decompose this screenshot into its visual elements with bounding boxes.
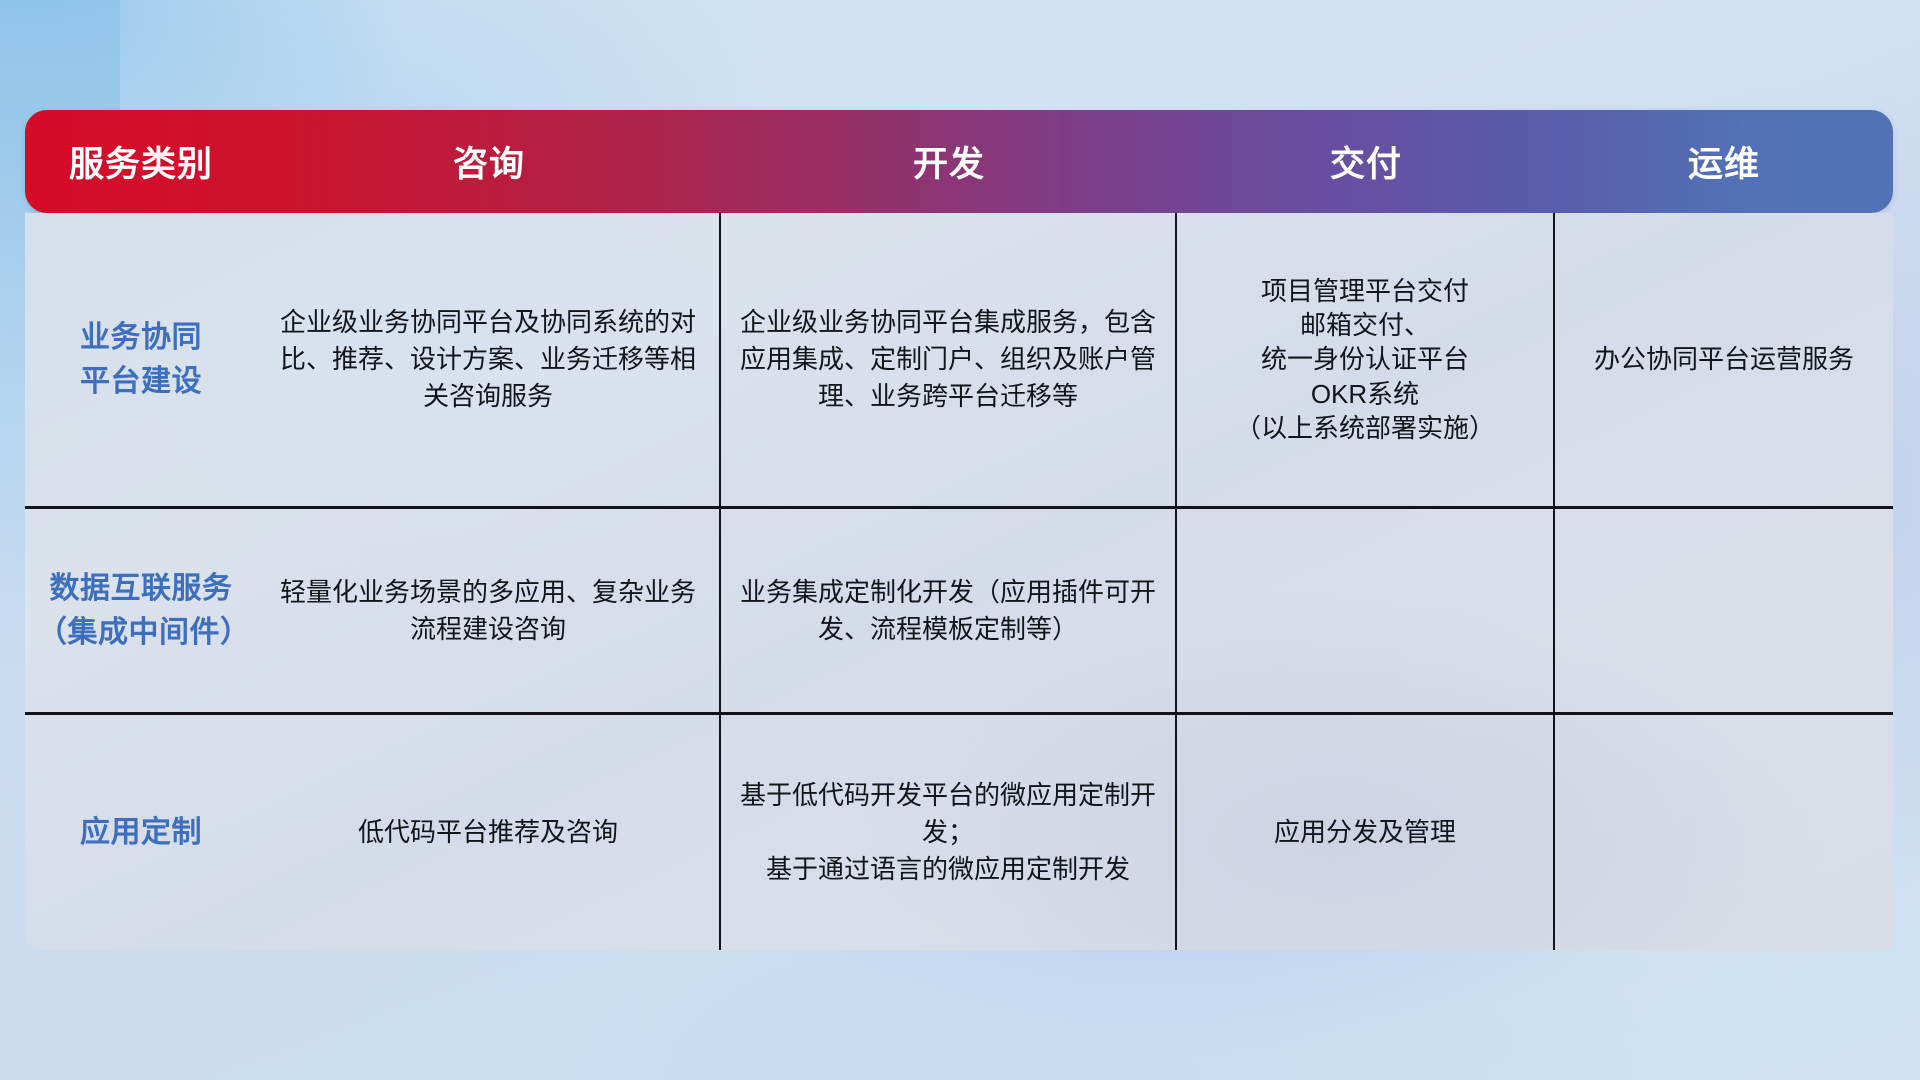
header-cell-consulting: 咨询 bbox=[257, 136, 721, 187]
row-development-text: 业务集成定制化开发（应用插件可开发、流程模板定制等） bbox=[733, 574, 1163, 648]
row-delivery-cell: 项目管理平台交付邮箱交付、统一身份认证平台OKR系统（以上系统部署实施） bbox=[1177, 213, 1555, 506]
row-development-cell: 业务集成定制化开发（应用插件可开发、流程模板定制等） bbox=[721, 509, 1177, 712]
table-row: 业务协同平台建设 企业级业务协同平台及协同系统的对比、推荐、设计方案、业务迁移等… bbox=[25, 213, 1893, 509]
row-category-cell: 业务协同平台建设 bbox=[25, 213, 257, 506]
row-development-cell: 基于低代码开发平台的微应用定制开发；基于通过语言的微应用定制开发 bbox=[721, 715, 1177, 950]
row-development-text: 基于低代码开发平台的微应用定制开发；基于通过语言的微应用定制开发 bbox=[733, 777, 1163, 888]
row-category-label: 业务协同平台建设 bbox=[80, 316, 202, 403]
row-operations-cell: 办公协同平台运营服务 bbox=[1555, 213, 1893, 506]
row-category-cell: 数据互联服务（集成中间件） bbox=[25, 509, 257, 712]
row-operations-cell bbox=[1555, 715, 1893, 950]
row-development-text: 企业级业务协同平台集成服务，包含应用集成、定制门户、组织及账户管理、业务跨平台迁… bbox=[733, 304, 1163, 415]
row-consulting-text: 低代码平台推荐及咨询 bbox=[358, 814, 618, 851]
table-row: 应用定制 低代码平台推荐及咨询 基于低代码开发平台的微应用定制开发；基于通过语言… bbox=[25, 715, 1893, 950]
row-consulting-text: 轻量化业务场景的多应用、复杂业务流程建设咨询 bbox=[269, 574, 707, 648]
row-delivery-text: 应用分发及管理 bbox=[1274, 814, 1456, 851]
row-category-label: 数据互联服务（集成中间件） bbox=[37, 567, 245, 654]
header-cell-service-category: 服务类别 bbox=[25, 136, 257, 187]
row-category-cell: 应用定制 bbox=[25, 715, 257, 950]
header-cell-operations: 运维 bbox=[1555, 136, 1893, 187]
table-body: 业务协同平台建设 企业级业务协同平台及协同系统的对比、推荐、设计方案、业务迁移等… bbox=[25, 213, 1893, 950]
header-cell-delivery: 交付 bbox=[1177, 136, 1555, 187]
service-matrix-table: 服务类别 咨询 开发 交付 运维 业务协同平台建设 企业级业务协同平台及协同系统… bbox=[25, 110, 1893, 950]
row-consulting-cell: 低代码平台推荐及咨询 bbox=[257, 715, 721, 950]
table-header-row: 服务类别 咨询 开发 交付 运维 bbox=[25, 110, 1893, 213]
row-delivery-cell bbox=[1177, 509, 1555, 712]
row-consulting-cell: 轻量化业务场景的多应用、复杂业务流程建设咨询 bbox=[257, 509, 721, 712]
row-delivery-text: 项目管理平台交付邮箱交付、统一身份认证平台OKR系统（以上系统部署实施） bbox=[1235, 274, 1495, 446]
row-operations-cell bbox=[1555, 509, 1893, 712]
row-category-label: 应用定制 bbox=[80, 811, 202, 855]
row-development-cell: 企业级业务协同平台集成服务，包含应用集成、定制门户、组织及账户管理、业务跨平台迁… bbox=[721, 213, 1177, 506]
row-delivery-cell: 应用分发及管理 bbox=[1177, 715, 1555, 950]
row-consulting-cell: 企业级业务协同平台及协同系统的对比、推荐、设计方案、业务迁移等相关咨询服务 bbox=[257, 213, 721, 506]
row-consulting-text: 企业级业务协同平台及协同系统的对比、推荐、设计方案、业务迁移等相关咨询服务 bbox=[269, 304, 707, 415]
header-cell-development: 开发 bbox=[721, 136, 1177, 187]
row-operations-text: 办公协同平台运营服务 bbox=[1594, 341, 1854, 378]
table-row: 数据互联服务（集成中间件） 轻量化业务场景的多应用、复杂业务流程建设咨询 业务集… bbox=[25, 509, 1893, 715]
